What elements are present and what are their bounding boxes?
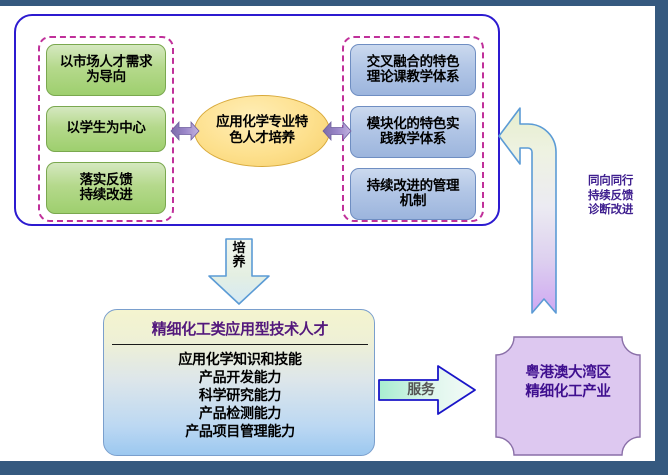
talent-ability-item: 科学研究能力 — [104, 388, 375, 406]
feedback-note-line1: 同向同行 — [588, 173, 633, 188]
feedback-note-text: 同向同行 持续反馈 诊断改进 — [588, 173, 633, 217]
principle-box-market-demand-label: 以市场人才需求为导向 — [60, 55, 152, 85]
system-box-practice[interactable]: 模块化的特色实践教学体系 — [350, 106, 476, 158]
talent-ability-list: 应用化学知识和技能 产品开发能力 科学研究能力 产品检测能力 产品项目管理能力 — [104, 352, 375, 442]
system-box-management-label: 持续改进的管理机制 — [367, 179, 459, 209]
principle-box-market-demand[interactable]: 以市场人才需求为导向 — [46, 44, 166, 96]
double-arrow-right-icon — [322, 117, 352, 145]
cultivate-arrow: 培 养 — [200, 238, 278, 306]
industry-plaque[interactable]: 粤港澳大湾区 精细化工产业 — [495, 336, 641, 456]
core-goal-ellipse-label: 应用化学专业特色人才培养 — [216, 115, 308, 146]
industry-plaque-text: 粤港澳大湾区 精细化工产业 — [495, 364, 641, 402]
talent-outcome-box[interactable]: 精细化工类应用型技术人才 应用化学知识和技能 产品开发能力 科学研究能力 产品检… — [103, 309, 375, 456]
top-framework-container: 以市场人才需求为导向 以学生为中心 落实反馈持续改进 交叉融合的特色理论课教学体… — [14, 14, 500, 226]
principle-box-feedback-improve[interactable]: 落实反馈持续改进 — [46, 162, 166, 214]
talent-ability-item: 应用化学知识和技能 — [104, 352, 375, 370]
double-arrow-left-icon — [170, 117, 200, 145]
service-arrow-label: 服务 — [378, 379, 464, 399]
industry-plaque-line2: 精细化工产业 — [495, 383, 641, 402]
feedback-note-line2: 持续反馈 — [588, 188, 633, 203]
principle-box-student-centered-label: 以学生为中心 — [66, 121, 145, 136]
slide-frame: 以市场人才需求为导向 以学生为中心 落实反馈持续改进 交叉融合的特色理论课教学体… — [0, 0, 668, 475]
talent-ability-item: 产品开发能力 — [104, 370, 375, 388]
talent-divider — [112, 344, 368, 345]
system-box-practice-label: 模块化的特色实践教学体系 — [367, 117, 459, 147]
slide-canvas: 以市场人才需求为导向 以学生为中心 落实反馈持续改进 交叉融合的特色理论课教学体… — [0, 6, 655, 461]
talent-ability-item: 产品检测能力 — [104, 406, 375, 424]
talent-ability-item: 产品项目管理能力 — [104, 424, 375, 442]
cultivate-label-line2: 养 — [200, 256, 278, 270]
principle-box-feedback-improve-label: 落实反馈持续改进 — [80, 173, 133, 203]
system-box-theory-label: 交叉融合的特色理论课教学体系 — [367, 55, 459, 85]
cultivate-arrow-label: 培 养 — [200, 242, 278, 271]
talent-outcome-title: 精细化工类应用型技术人才 — [104, 318, 375, 339]
principle-box-student-centered[interactable]: 以学生为中心 — [46, 106, 166, 152]
industry-plaque-line1: 粤港澳大湾区 — [495, 364, 641, 383]
system-box-management[interactable]: 持续改进的管理机制 — [350, 168, 476, 220]
feedback-note-line3: 诊断改进 — [588, 202, 633, 217]
system-box-theory[interactable]: 交叉融合的特色理论课教学体系 — [350, 44, 476, 96]
core-goal-ellipse[interactable]: 应用化学专业特色人才培养 — [194, 95, 330, 167]
service-arrow: 服务 — [378, 364, 482, 416]
